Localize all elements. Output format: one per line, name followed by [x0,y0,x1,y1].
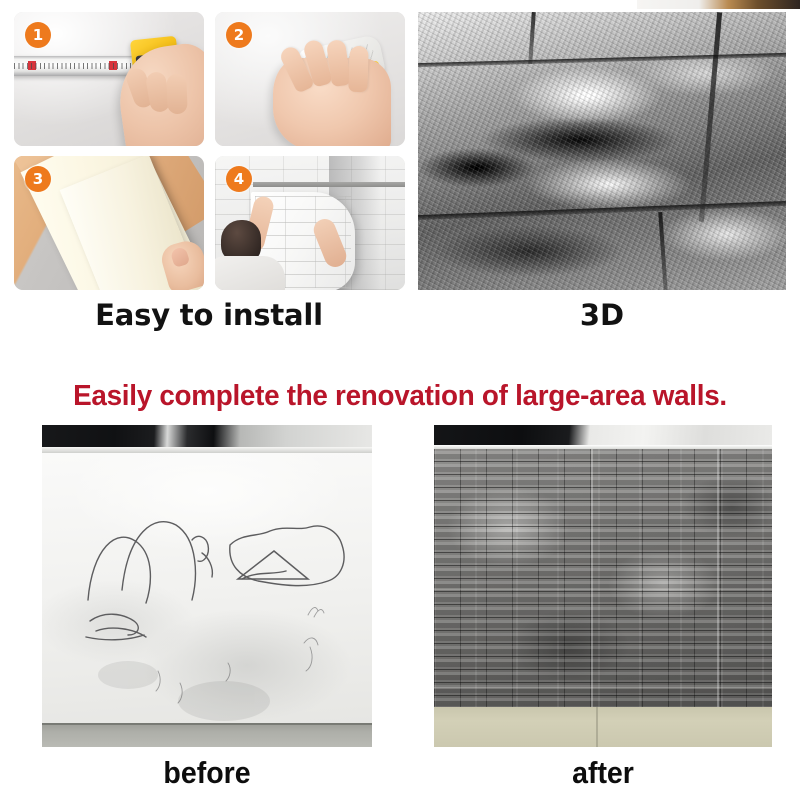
texture-closeup-photo[interactable] [418,12,786,290]
before-photo[interactable] [42,425,372,747]
wall-scribbles-icon [42,425,372,747]
install-step-3-tile[interactable]: 3 [14,156,204,290]
after-photo[interactable] [434,425,772,747]
after-background-band [434,425,772,447]
before-floor-strip [42,723,372,747]
panel-seam-vertical [591,449,593,709]
install-step-1-tile[interactable]: 1 [14,12,204,146]
three-d-caption: 3D [418,298,786,332]
before-caption: before [55,755,359,791]
panel-seam-horizontal [434,588,772,590]
headline-text: Easily complete the renovation of large-… [16,380,784,413]
easy-to-install-caption: Easy to install [14,298,404,332]
install-step-4-tile[interactable]: 4 [215,156,405,290]
install-step-2-tile[interactable]: 2 [215,12,405,146]
panel-seam-horizontal [434,687,772,689]
product-infographic-page: 1 2 [0,0,800,800]
step-badge-2: 2 [226,22,252,48]
step-badge-4: 4 [226,166,252,192]
step-badge-1: 1 [25,22,51,48]
installation-steps-grid: 1 2 [14,12,404,290]
panel-seam-vertical [717,449,719,709]
after-caption: after [448,755,759,791]
after-floor-strip [434,707,772,747]
top-section: 1 2 [0,0,800,352]
step-badge-3: 3 [25,166,51,192]
after-stone-panel-wall [434,449,772,709]
